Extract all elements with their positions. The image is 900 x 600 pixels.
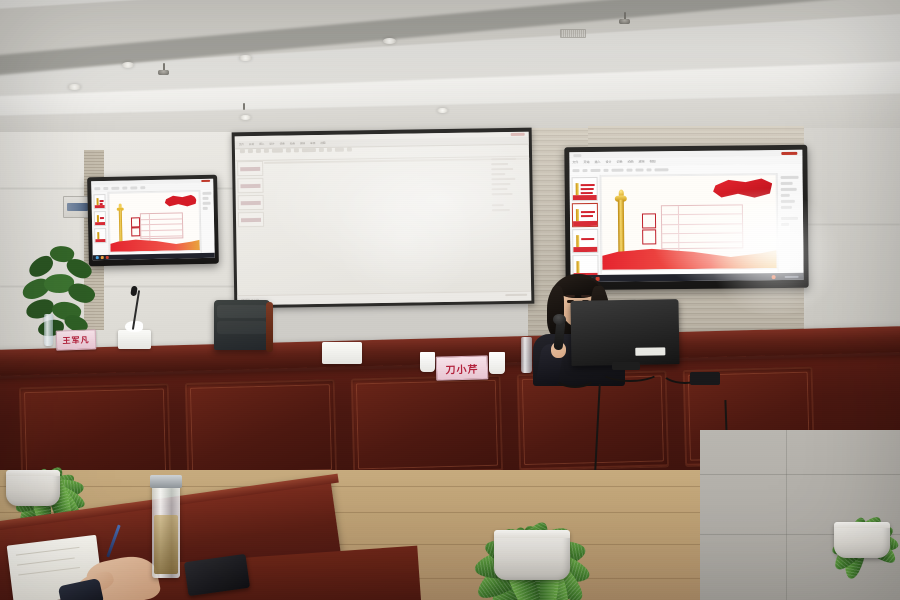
wall-tv-left[interactable] bbox=[87, 175, 219, 267]
taskbar-app-icon[interactable] bbox=[772, 275, 776, 279]
potted-palm-front-center bbox=[438, 396, 628, 576]
ppt-side-pane[interactable] bbox=[777, 173, 804, 272]
slide-canvas[interactable] bbox=[601, 174, 778, 271]
seal-stamp-icon bbox=[131, 218, 139, 228]
wall-tv-right[interactable]: 文件 开始 插入 设计 切换 动画 放映 视图 bbox=[564, 145, 808, 291]
wall-seam bbox=[800, 224, 900, 225]
sprinkler-stem bbox=[243, 103, 245, 110]
taskbar-clock bbox=[785, 275, 799, 277]
seal-stamp-icon bbox=[642, 229, 656, 244]
gold-huabiao-column-icon bbox=[612, 190, 630, 259]
chair-armrest bbox=[266, 302, 273, 352]
projection-screen[interactable]: 文件 开始 插入 设计 切换 动画 放映 审阅 视图 bbox=[232, 128, 535, 309]
gold-huabiao-column-icon bbox=[115, 204, 126, 244]
placard-text: 刀小芹 bbox=[445, 360, 478, 376]
slide-thumbnail[interactable] bbox=[572, 229, 598, 253]
downlight-icon bbox=[383, 38, 396, 44]
ribbon-tab[interactable]: 插入 bbox=[594, 160, 600, 164]
conference-room-photo: 文件 开始 插入 设计 切换 动画 放映 审阅 视图 bbox=[0, 0, 900, 600]
paper-cup[interactable] bbox=[489, 352, 505, 374]
computer-monitor-back bbox=[570, 299, 679, 366]
content-table bbox=[661, 204, 743, 249]
ribbon-tab[interactable]: 放映 bbox=[638, 159, 644, 163]
tissue-box-center bbox=[322, 342, 362, 364]
slide-thumbnail[interactable] bbox=[93, 194, 105, 209]
seal-stamp-icon bbox=[131, 227, 139, 237]
downlight-icon bbox=[239, 55, 252, 61]
ribbon-tab[interactable]: 动画 bbox=[627, 160, 633, 164]
water-bottle-left[interactable] bbox=[44, 314, 53, 346]
slide-thumbnail-panel[interactable] bbox=[570, 175, 602, 274]
desk-cable bbox=[553, 362, 597, 388]
tea-liquid bbox=[154, 515, 178, 575]
name-placard-center: 刀小芹 bbox=[436, 355, 489, 380]
tv-left-screen[interactable] bbox=[91, 179, 215, 261]
tissue-box-left bbox=[118, 330, 151, 349]
downlight-icon bbox=[437, 108, 448, 113]
desk-equipment bbox=[690, 372, 720, 385]
potted-palm-left-rear bbox=[0, 382, 110, 502]
seal-stamp-icon bbox=[642, 214, 656, 229]
glass-tea-tumbler[interactable] bbox=[152, 482, 180, 578]
placard-text: 王军凡 bbox=[62, 334, 89, 346]
downlight-icon bbox=[122, 62, 134, 68]
plant-pot bbox=[6, 470, 60, 506]
ribbon-tab[interactable]: 文件 bbox=[572, 160, 578, 164]
panel-display bbox=[67, 203, 88, 211]
ppt-accent bbox=[781, 151, 797, 154]
presenter-eyebrow bbox=[566, 295, 575, 297]
paper-cup[interactable] bbox=[420, 352, 435, 372]
ceiling-band bbox=[0, 0, 900, 74]
slide-thumbnail[interactable] bbox=[94, 211, 106, 226]
slide-canvas[interactable] bbox=[108, 191, 200, 253]
sprinkler-icon bbox=[158, 70, 169, 75]
downlight-icon bbox=[68, 84, 81, 90]
tv-right-screen[interactable]: 文件 开始 插入 设计 切换 动画 放映 视图 bbox=[569, 150, 803, 282]
name-placard-left: 王军凡 bbox=[56, 329, 97, 350]
ribbon-tab[interactable]: 设计 bbox=[605, 160, 611, 164]
plant-pot bbox=[494, 530, 570, 580]
plant-pot bbox=[834, 522, 890, 558]
slide-thumbnail[interactable] bbox=[572, 203, 598, 227]
presenter-eyebrow bbox=[581, 295, 590, 297]
slide-artwork bbox=[602, 175, 777, 270]
ribbon-tab[interactable]: 切换 bbox=[616, 160, 622, 164]
red-flag-banner-icon bbox=[165, 194, 197, 210]
sprinkler-icon bbox=[619, 19, 630, 24]
ribbon-tab[interactable]: 开始 bbox=[583, 160, 589, 164]
downlight-icon bbox=[240, 115, 251, 120]
executive-chair[interactable] bbox=[214, 300, 270, 350]
content-table bbox=[140, 212, 183, 239]
ribbon-tab[interactable]: 视图 bbox=[649, 159, 655, 163]
slide-thumbnail[interactable] bbox=[572, 177, 598, 201]
projector-glare bbox=[235, 132, 532, 306]
ceiling-vent-icon bbox=[560, 29, 586, 38]
red-flag-banner-icon bbox=[713, 178, 772, 204]
tumbler-lid bbox=[150, 475, 181, 487]
monitor-label bbox=[635, 347, 665, 356]
slide-artwork bbox=[109, 192, 199, 252]
potted-palm-front-right bbox=[806, 430, 900, 550]
windows-taskbar[interactable] bbox=[93, 253, 215, 261]
ppt-side-pane[interactable] bbox=[199, 190, 214, 253]
desk-cable bbox=[600, 360, 660, 382]
